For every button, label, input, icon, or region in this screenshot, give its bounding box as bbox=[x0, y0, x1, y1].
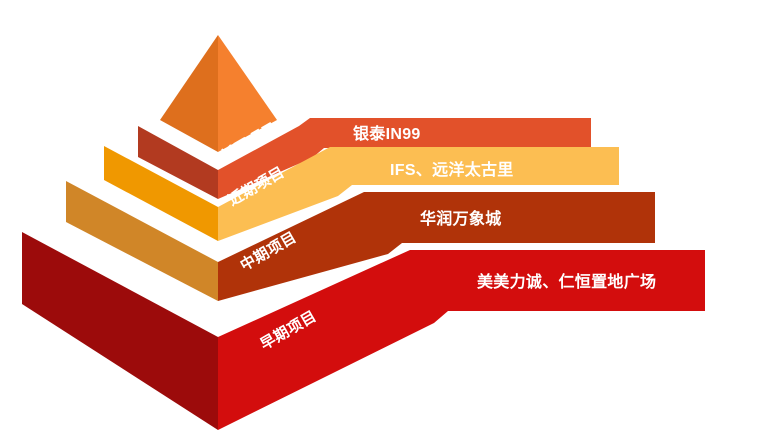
apex-left-face bbox=[160, 35, 218, 152]
pyramid-tier-early[interactable] bbox=[22, 232, 705, 430]
callout-label-new: 银泰IN99 bbox=[353, 124, 421, 143]
callout-label-near: IFS、远洋太古里 bbox=[390, 160, 514, 179]
callout-label-mid: 华润万象城 bbox=[420, 209, 502, 228]
pyramid-diagram: 新开项目 近期项目 中期项目 早期项目 银泰IN99 IFS、远洋太古里 华润万… bbox=[0, 0, 757, 447]
callout-label-early: 美美力诚、仁恒置地广场 bbox=[477, 272, 656, 291]
pyramid-graphic: 新开项目 近期项目 中期项目 早期项目 银泰IN99 IFS、远洋太古里 华润万… bbox=[0, 0, 757, 447]
